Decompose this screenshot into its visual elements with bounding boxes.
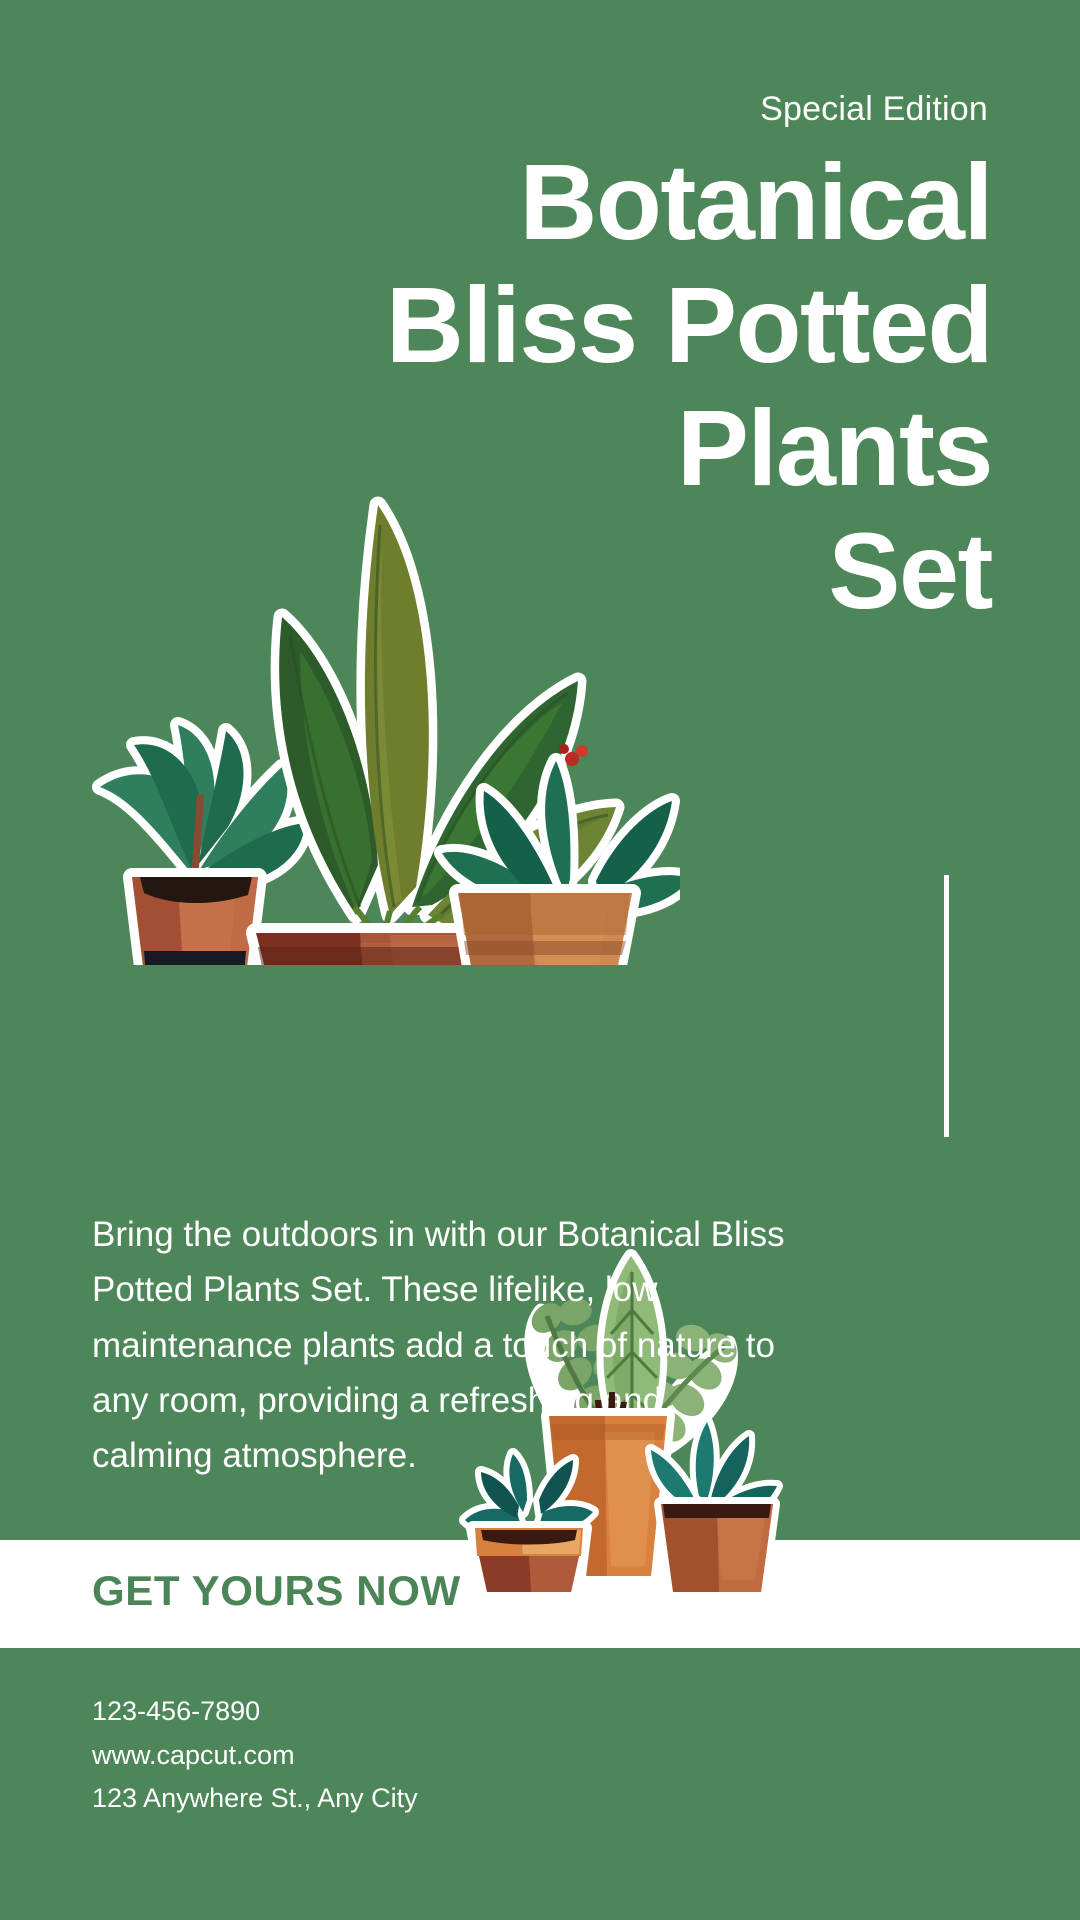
potted-plants-illustration — [60, 395, 680, 965]
contact-block: 123-456-7890 www.capcut.com 123 Anywhere… — [92, 1690, 418, 1821]
contact-phone[interactable]: 123-456-7890 — [92, 1690, 418, 1734]
contact-website[interactable]: www.capcut.com — [92, 1734, 418, 1778]
title-line-3: Plants — [60, 386, 992, 509]
title-line-4: Set — [60, 509, 992, 632]
eyebrow-label: Special Edition — [760, 92, 988, 126]
flower-accent — [559, 744, 588, 766]
description-text: Bring the outdoors in with our Botanical… — [92, 1207, 792, 1483]
spider-plant-right — [442, 744, 680, 965]
palm-plant-left — [100, 725, 304, 965]
cta-button[interactable]: GET YOURS NOW — [92, 1570, 461, 1612]
page-title: Botanical Bliss Potted Plants Set — [60, 140, 992, 632]
banana-plant-center — [256, 505, 616, 965]
title-line-2: Bliss Potted — [60, 263, 992, 386]
vertical-divider — [944, 875, 949, 1137]
title-line-1: Botanical — [60, 140, 992, 263]
poster-canvas: Special Edition — [0, 0, 1080, 1920]
contact-address: 123 Anywhere St., Any City — [92, 1777, 418, 1821]
